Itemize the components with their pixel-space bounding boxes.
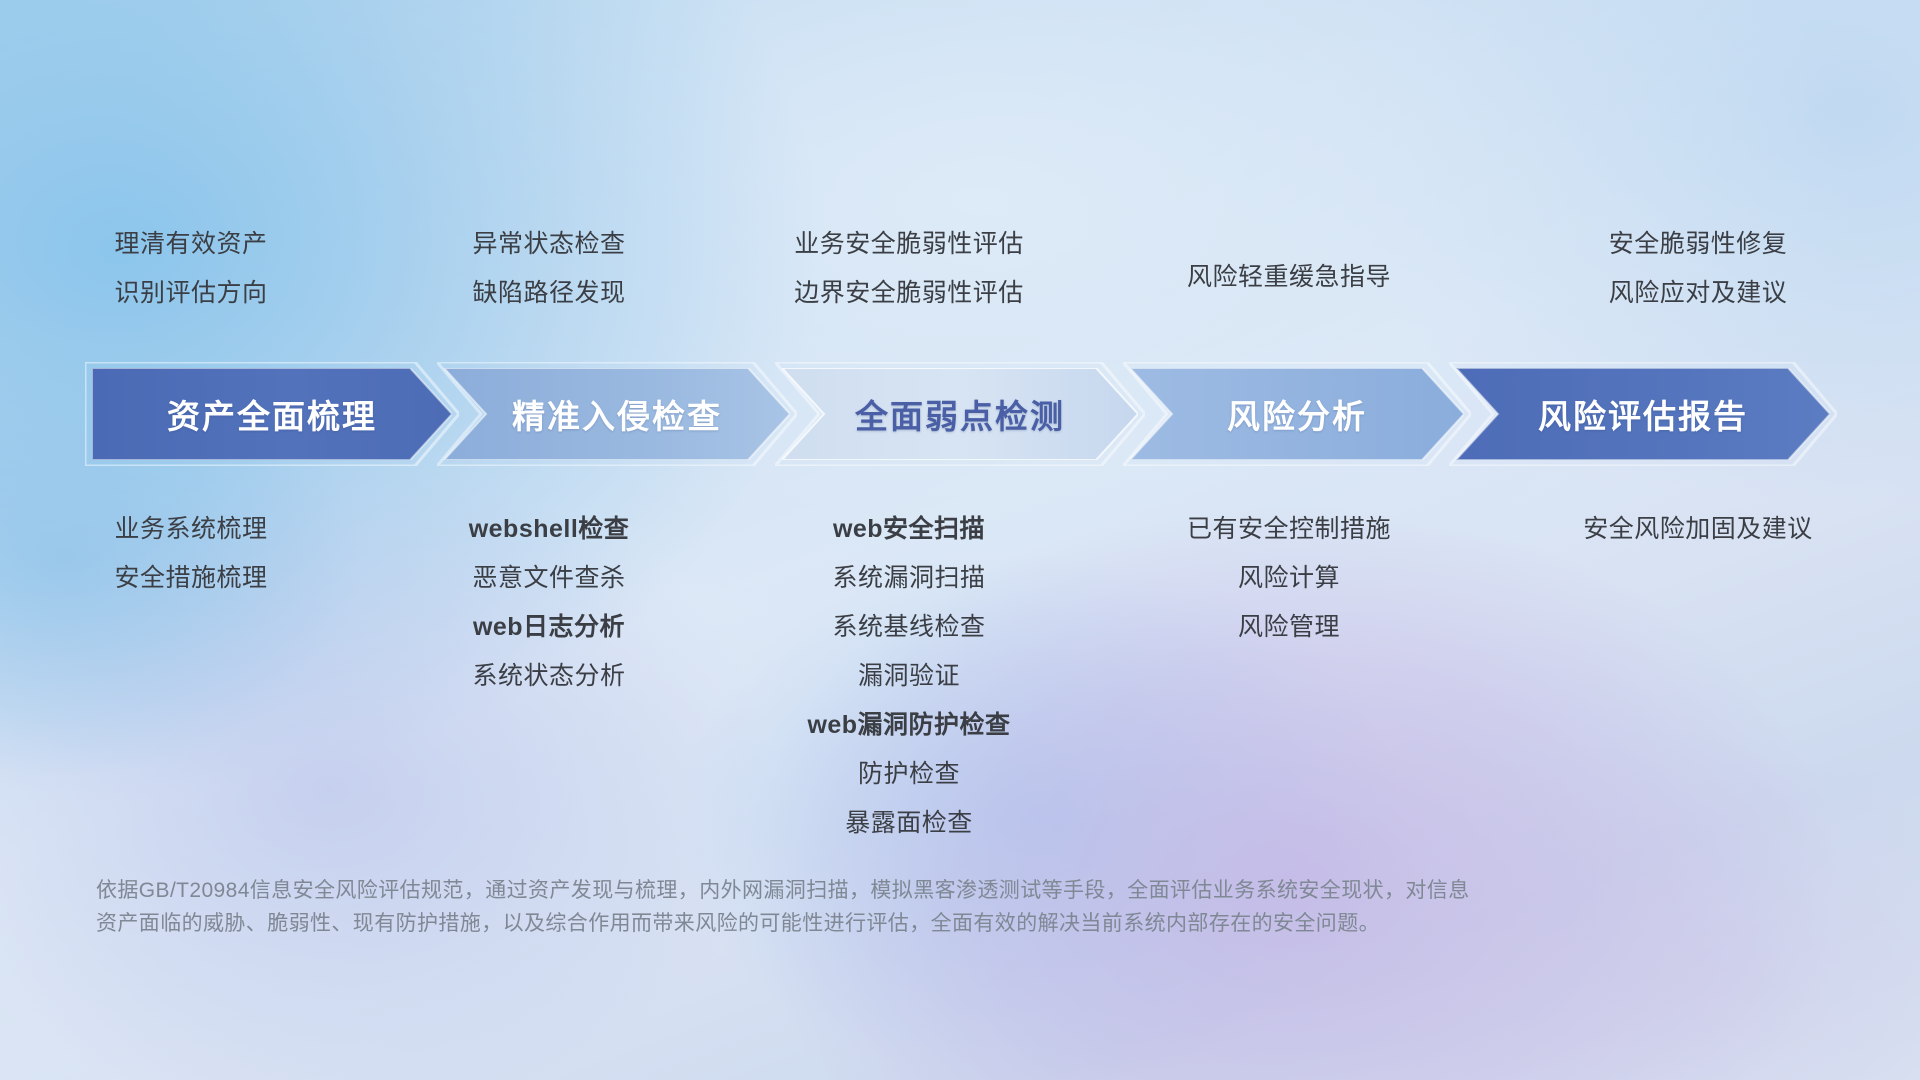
top-label-item: 边界安全脆弱性评估 [794,269,1024,318]
stage-arrow-intrusion-check[interactable]: 精准入侵检查 [444,368,790,460]
bottom-labels-risk-analysis: 已有安全控制措施 风险计算 风险管理 [1102,505,1476,652]
top-label-item: 识别评估方向 [114,269,267,318]
stage-arrow-assessment-report[interactable]: 风险评估报告 [1456,368,1830,460]
bottom-labels-weakness-detection: web安全扫描 系统漏洞扫描 系统基线检查 漏洞验证 web漏洞防护检查 防护检… [716,505,1102,848]
bottom-label-item: 漏洞验证 [858,652,960,701]
top-label-item: 缺陷路径发现 [472,269,625,318]
bottom-label-item: 安全风险加固及建议 [1583,505,1813,554]
stage-arrow-risk-analysis[interactable]: 风险分析 [1130,368,1464,460]
stage-arrow-weakness-detection[interactable]: 全面弱点检测 [782,368,1138,460]
bottom-label-item: 系统漏洞扫描 [832,554,985,603]
footer-line-1: 依据GB/T20984信息安全风险评估规范，通过资产发现与梳理，内外网漏洞扫描，… [96,874,1696,907]
bottom-label-item: 安全措施梳理 [114,554,267,603]
top-label-item: 安全脆弱性修复 [1609,220,1788,269]
bottom-label-item: 风险计算 [1238,554,1340,603]
footer-description: 依据GB/T20984信息安全风险评估规范，通过资产发现与梳理，内外网漏洞扫描，… [96,874,1696,940]
bottom-label-item: 已有安全控制措施 [1187,505,1391,554]
top-label-item: 风险轻重缓急指导 [1187,253,1391,302]
top-labels-asset-inventory: 理清有效资产 识别评估方向 [0,220,382,318]
bottom-label-item: 风险管理 [1238,603,1340,652]
bottom-labels-asset-inventory: 业务系统梳理 安全措施梳理 [0,505,382,603]
footer-line-2: 资产面临的威胁、脆弱性、现有防护措施，以及综合作用而带来风险的可能性进行评估，全… [96,907,1696,940]
top-labels-risk-analysis: 风险轻重缓急指导 [1102,220,1476,302]
stage-arrow-asset-inventory[interactable]: 资产全面梳理 [92,368,452,460]
stage-title: 风险评估报告 [1538,390,1748,438]
bottom-label-item: 防护检查 [858,750,960,799]
top-labels-assessment-report: 安全脆弱性修复 风险应对及建议 [1476,220,1920,318]
bottom-label-row: 业务系统梳理 安全措施梳理 webshell检查 恶意文件查杀 web日志分析 … [0,505,1920,848]
bottom-labels-intrusion-check: webshell检查 恶意文件查杀 web日志分析 系统状态分析 [382,505,716,701]
top-labels-intrusion-check: 异常状态检查 缺陷路径发现 [382,220,716,318]
bottom-label-item: 暴露面检查 [845,799,973,848]
process-arrow-band: 资产全面梳理 精准入侵检查 [92,368,1862,460]
top-label-item: 异常状态检查 [472,220,625,269]
top-labels-weakness-detection: 业务安全脆弱性评估 边界安全脆弱性评估 [716,220,1102,318]
stage-title: 风险分析 [1227,390,1367,438]
bottom-labels-assessment-report: 安全风险加固及建议 [1476,505,1920,554]
top-label-row: 理清有效资产 识别评估方向 异常状态检查 缺陷路径发现 业务安全脆弱性评估 边界… [0,220,1920,318]
top-label-item: 理清有效资产 [114,220,267,269]
stage-title: 全面弱点检测 [855,390,1065,438]
bottom-label-item: 系统状态分析 [472,652,625,701]
bottom-label-item: 业务系统梳理 [114,505,267,554]
bottom-label-item: 恶意文件查杀 [472,554,625,603]
bottom-label-item: web漏洞防护检查 [807,701,1010,750]
top-label-item: 风险应对及建议 [1609,269,1788,318]
top-label-item: 业务安全脆弱性评估 [794,220,1024,269]
bottom-label-item: web日志分析 [473,603,625,652]
bottom-label-item: web安全扫描 [833,505,985,554]
stage-title: 资产全面梳理 [167,390,377,438]
stage-title: 精准入侵检查 [512,390,722,438]
bottom-label-item: webshell检查 [469,505,630,554]
bottom-label-item: 系统基线检查 [832,603,985,652]
